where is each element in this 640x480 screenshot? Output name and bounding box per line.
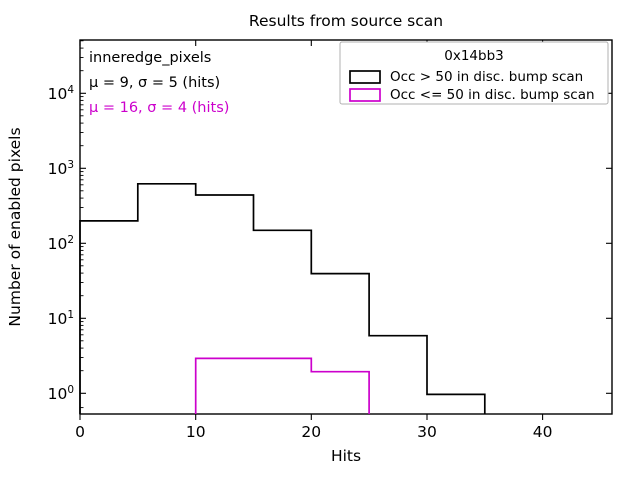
- legend-title: 0x14bb3: [444, 48, 503, 64]
- legend-label-occ-gt-50[interactable]: Occ > 50 in disc. bump scan: [390, 69, 583, 85]
- x-ticklabel-40: 40: [533, 423, 553, 441]
- chart-svg: Results from source scan: [0, 0, 640, 480]
- y-axis-label: Number of enabled pixels: [6, 127, 24, 326]
- annotation-block: inneredge_pixels μ = 9, σ = 5 (hits) μ =…: [89, 50, 229, 116]
- x-ticklabel-0: 0: [75, 423, 85, 441]
- x-ticklabel-30: 30: [417, 423, 437, 441]
- figure-canvas: Results from source scan: [0, 0, 640, 480]
- annotation-line-2: μ = 16, σ = 4 (hits): [89, 100, 229, 116]
- annotation-line-0: inneredge_pixels: [89, 50, 211, 66]
- legend-label-occ-le-50[interactable]: Occ <= 50 in disc. bump scan: [390, 87, 595, 103]
- chart-title: Results from source scan: [249, 12, 443, 30]
- x-ticklabel-20: 20: [301, 423, 321, 441]
- annotation-line-1: μ = 9, σ = 5 (hits): [89, 75, 220, 91]
- x-axis-label: Hits: [331, 447, 361, 465]
- x-ticklabel-10: 10: [186, 423, 206, 441]
- legend[interactable]: 0x14bb3 Occ > 50 in disc. bump scan Occ …: [340, 42, 608, 104]
